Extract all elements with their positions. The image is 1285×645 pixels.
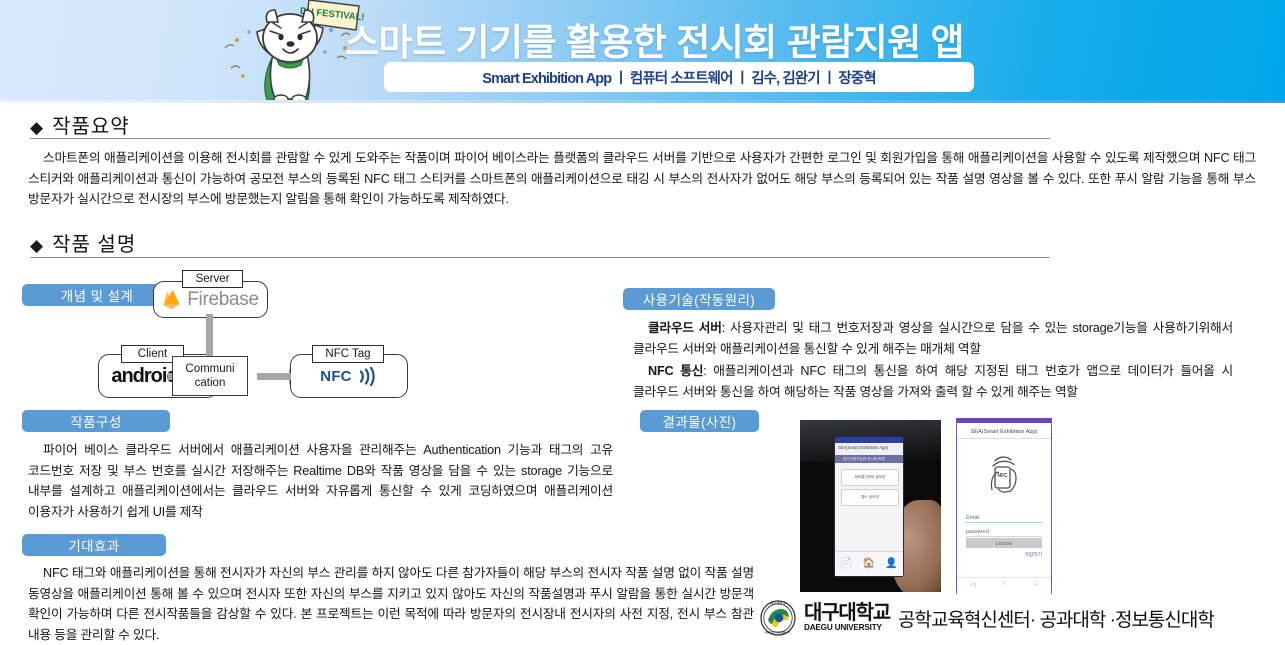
technology-item-nfc: NFC 통신: 애플리케이션과 NFC 태그의 통신을 하여 해당 지정된 태그… (633, 361, 1233, 402)
photo1-bottom-nav: 📄 🏠 👤 (835, 551, 903, 576)
photo2-status-bar (957, 418, 1051, 423)
communication-line2: cation (195, 376, 226, 390)
connector-communication-to-tag (257, 373, 291, 380)
section-heading-description-label: 작품 설명 (52, 228, 136, 257)
person-icon[interactable]: 👤 (885, 559, 897, 569)
photo2-password-field[interactable]: password (966, 524, 1042, 537)
poster-title: 스마트 기기를 활용한 전시회 관람지원 앱 (345, 8, 1125, 70)
svg-text:대 구 대 학 교: 대 구 대 학 교 (771, 602, 786, 606)
photo2-system-nav: ◁ ○ □ (957, 577, 1051, 590)
photo1-exhibition-card-2[interactable]: 캡스 공모전 (841, 489, 899, 506)
svg-text:DAEGU UNIVERSITY: DAEGU UNIVERSITY (765, 631, 791, 635)
badge-composition: 작품구성 (22, 410, 170, 432)
header-bottom-strip (0, 100, 1285, 103)
photo2-email-field[interactable]: Email (966, 510, 1042, 523)
badge-result: 결과물(사진) (640, 410, 759, 432)
architecture-diagram: Firebase Server android Client NFC (95, 266, 605, 411)
summary-paragraph: 스마트폰의 애플리케이션을 이용해 전시회를 관람할 수 있게 도와주는 작품이… (28, 148, 1256, 210)
list-icon[interactable]: 📄 (840, 559, 852, 569)
nfc-waves-icon (358, 367, 378, 386)
university-name-block: 대구대학교 DAEGU UNIVERSITY (804, 603, 890, 632)
home-icon-2[interactable]: ○ (1003, 581, 1007, 587)
photo2-nfc-badge-text: NFC (997, 473, 1008, 479)
node-communication: Communi cation (172, 356, 248, 396)
technology-item-cloud-body: : 사용자관리 및 태그 번호저장과 영상을 실시간으로 담을 수 있는 sto… (633, 321, 1233, 356)
mascot-tiger-icon: DU FESTIVAL! (213, 0, 365, 103)
poster-subtitle-pill: Smart Exhibition App ㅣ 컴퓨터 소프트웨어 ㅣ 김수, 김… (384, 62, 974, 92)
composition-paragraph: 파이어 베이스 클라우드 서버에서 애플리케이션 사용자을 관리해주는 Auth… (28, 440, 613, 522)
nfc-phone-illustration-icon: NFC (985, 448, 1025, 498)
photo1-phone-screen: SEA(Smart Exhibition App) 참가신청가능한 전시회 목록… (834, 436, 904, 577)
node-server-label: Server (182, 270, 243, 288)
technology-item-nfc-body: : 애플리케이션과 NFC 태그의 통신을 하여 해당 지정된 태그 번호가 앱… (633, 364, 1233, 399)
photo2-login-button[interactable]: LOGIN (966, 538, 1042, 548)
diamond-bullet-icon: ◆ (30, 119, 43, 136)
photo1-tab-label: 참가신청가능한 전시회 목록 (843, 457, 885, 462)
effect-paragraph: NFC 태그와 애플리케이션을 통해 전시자가 자신의 부스 관리를 하지 않아… (28, 563, 754, 645)
result-photo-exhibition-list: SEA(Smart Exhibition App) 참가신청가능한 전시회 목록… (800, 420, 941, 592)
back-icon[interactable]: ◁ (971, 581, 976, 588)
footer-branding: 대 구 대 학 교 DAEGU UNIVERSITY 대구대학교 DAEGU U… (760, 600, 1214, 636)
poster-root: DU FESTIVAL! (0, 0, 1285, 643)
tag-value: NFC (320, 368, 351, 385)
firebase-icon (162, 289, 181, 310)
node-nfc-tag-label: NFC Tag (312, 345, 384, 363)
photo2-signup-link[interactable]: 가입하기 (1024, 551, 1042, 558)
server-value: Firebase (187, 289, 259, 311)
section-heading-summary: ◆ 작품요약 (30, 110, 130, 139)
recents-icon[interactable]: □ (1034, 581, 1038, 587)
poster-header: DU FESTIVAL! (0, 0, 1285, 103)
photo1-exhibition-card-1[interactable]: 정보통신부야 공모전 (841, 469, 899, 486)
university-name-en: DAEGU UNIVERSITY (804, 624, 890, 632)
daegu-university-emblem-icon: 대 구 대 학 교 DAEGU UNIVERSITY (760, 600, 796, 636)
communication-line1: Communi (185, 362, 234, 376)
badge-technology: 사용기술(작동원리) (623, 288, 775, 310)
poster-subtitle: Smart Exhibition App ㅣ 컴퓨터 소프트웨어 ㅣ 김수, 김… (482, 67, 875, 88)
home-icon[interactable]: 🏠 (863, 559, 875, 569)
photo1-app-title: SEA(Smart Exhibition App) (838, 445, 888, 450)
diamond-bullet-icon-2: ◆ (30, 237, 43, 254)
technology-item-cloud-title: 클라우드 서버 (648, 321, 722, 335)
section-heading-description: ◆ 작품 설명 (30, 228, 136, 257)
badge-effect: 기대효과 (22, 534, 166, 556)
technology-item-cloud: 클라우드 서버: 사용자관리 및 태그 번호저장과 영상을 실시간으로 담을 수… (633, 318, 1233, 359)
section-rule-description (30, 257, 1050, 258)
department-names: 공학교육혁신센터· 공과대학 ·정보통신대학 (898, 605, 1214, 632)
technology-item-nfc-title: NFC 통신 (648, 364, 703, 378)
section-rule-summary (30, 138, 1050, 139)
university-name-ko: 대구대학교 (804, 603, 890, 623)
result-photo-login-screen: SEA(Smart Exhibition App) NFC Email pass… (948, 418, 1058, 594)
photo2-app-title: SEA(Smart Exhibition App) (957, 425, 1051, 439)
section-heading-summary-label: 작품요약 (52, 110, 130, 139)
photo2-phone-frame: SEA(Smart Exhibition App) NFC Email pass… (956, 418, 1052, 594)
